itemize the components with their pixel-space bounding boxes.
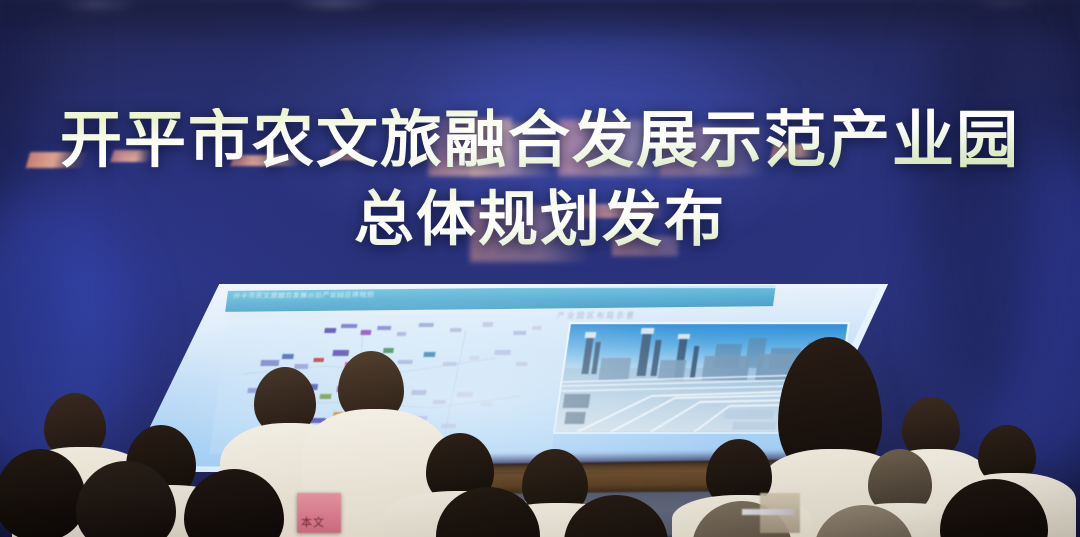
audience-person [796, 481, 934, 537]
title-line-1: 开平市农文旅融合发展示范产业园 [0, 108, 1080, 174]
audience-person [418, 471, 560, 537]
head [814, 505, 914, 537]
audience-person [168, 457, 306, 537]
head [184, 469, 284, 537]
seated-audience [0, 277, 1080, 537]
title-line-2: 总体规划发布 [0, 188, 1080, 252]
name-placard-text: 本文 [301, 514, 325, 530]
audience-person [548, 475, 688, 537]
name-placard: 本文 [297, 493, 341, 533]
head [564, 495, 668, 537]
head [940, 479, 1048, 537]
head [436, 487, 540, 537]
head [76, 461, 176, 537]
desk-object-secondary [742, 509, 794, 515]
audience-person [920, 467, 1070, 537]
stage-backdrop: 开平市农文旅融合发展示范产业园 总体规划发布 开平市农文旅融合发展示范产业园总体… [0, 0, 1080, 537]
projected-title: 开平市农文旅融合发展示范产业园 总体规划发布 [0, 108, 1080, 251]
